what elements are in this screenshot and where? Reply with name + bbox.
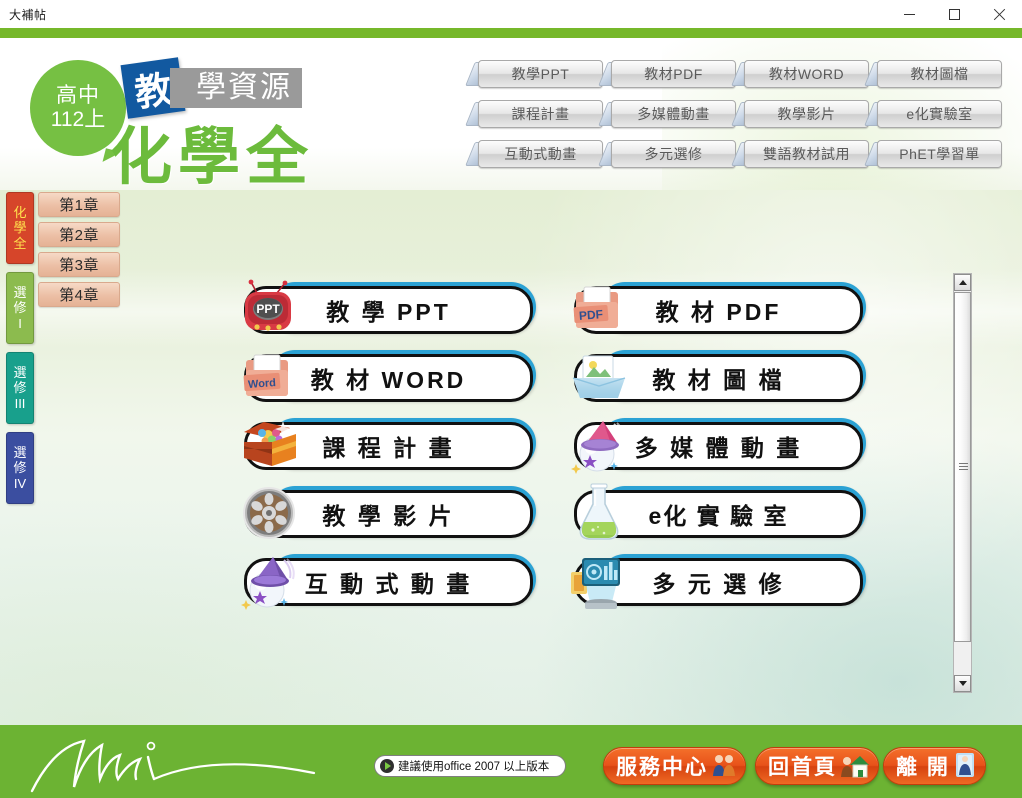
pdf-folder-icon: PDF — [566, 276, 632, 342]
rail-tab-chemistry-full[interactable]: 化 學 全 — [6, 192, 34, 264]
top-menu-item-4[interactable]: 教材圖檔 — [869, 60, 1002, 88]
window-controls — [887, 0, 1022, 28]
resource-button-interactive-animation[interactable]: 互 動 式 動 畫 — [236, 554, 536, 610]
close-button[interactable] — [977, 0, 1022, 28]
chevron-up-icon — [959, 280, 967, 285]
office-version-text: 建議使用office 2007 以上版本 — [398, 758, 549, 774]
maximize-button[interactable] — [932, 0, 977, 28]
image-folder-icon — [566, 344, 632, 410]
magic-hat-icon — [566, 412, 632, 478]
top-menu-item-3[interactable]: 教材WORD — [736, 60, 869, 88]
scroll-down-button[interactable] — [954, 675, 971, 692]
top-menu-label: 教材WORD — [744, 60, 869, 88]
scroll-up-button[interactable] — [954, 274, 971, 291]
window-title: 大補帖 — [0, 6, 47, 23]
top-menu-item-10[interactable]: 多元選修 — [603, 140, 736, 168]
resource-button-multimedia-animation[interactable]: 多 媒 體 動 畫 — [566, 418, 866, 474]
treasure-box-icon — [236, 412, 302, 478]
chapter-button-3[interactable]: 第3章 — [38, 252, 120, 277]
content-area: 化 學 全 選 修 I 選 修 III 選 修 IV 第1章 第2章 — [0, 190, 1022, 725]
rail-char: 全 — [13, 236, 26, 251]
top-menu-item-7[interactable]: 教學影片 — [736, 100, 869, 128]
resource-button-material-images[interactable]: 教 材 圖 檔 — [566, 350, 866, 406]
brand-accent-rule — [0, 28, 1022, 38]
scrollbar-thumb[interactable] — [954, 292, 971, 642]
resource-band: 學資源 — [170, 68, 302, 108]
home-label: 回首頁 — [768, 751, 837, 781]
content-scrollbar[interactable] — [953, 273, 972, 693]
chevron-down-icon — [959, 681, 967, 686]
svg-text:PDF: PDF — [578, 307, 603, 323]
chapter-button-2[interactable]: 第2章 — [38, 222, 120, 247]
minimize-button[interactable] — [887, 0, 932, 28]
top-menu-label: PhET學習單 — [877, 140, 1002, 168]
word-folder-icon: Word — [236, 344, 302, 410]
resource-button-course-plan[interactable]: 課 程 計 畫 — [236, 418, 536, 474]
resource-button-e-lab[interactable]: e化 實 驗 室 — [566, 486, 866, 542]
minimize-icon — [904, 14, 915, 15]
exit-button[interactable]: 離 開 — [883, 747, 986, 785]
top-menu-label: 多元選修 — [611, 140, 736, 168]
home-button[interactable]: 回首頁 — [755, 747, 879, 785]
resource-button-teaching-video[interactable]: 教 學 影 片 — [236, 486, 536, 542]
top-menu-label: 課程計畫 — [478, 100, 603, 128]
rail-char: 學 — [13, 220, 26, 235]
ppt-tv-icon: PPT — [236, 276, 302, 342]
exit-label: 離 開 — [896, 751, 950, 781]
rail-char: 化 — [13, 205, 26, 220]
svg-text:Word: Word — [248, 377, 277, 391]
grade-line-2: 112上 — [51, 108, 105, 132]
hologram-icon — [566, 548, 632, 614]
rail-tab-elective-1[interactable]: 選 修 I — [6, 272, 34, 344]
house-icon — [840, 752, 870, 781]
play-icon — [380, 759, 394, 773]
resource-button-grid: 教 學 PPT PPT — [236, 282, 896, 622]
maximize-icon — [949, 9, 960, 20]
resource-button-material-pdf[interactable]: 教 材 PDF PDF — [566, 282, 866, 338]
top-menu-item-5[interactable]: 課程計畫 — [470, 100, 603, 128]
magic-hat-icon — [236, 548, 302, 614]
rail-char: I — [18, 316, 22, 331]
top-menu-item-2[interactable]: 教材PDF — [603, 60, 736, 88]
svg-text:PPT: PPT — [256, 302, 280, 316]
top-menu-label: 教學影片 — [744, 100, 869, 128]
top-menu-label: 雙語教材試用 — [744, 140, 869, 168]
door-exit-icon — [953, 752, 977, 781]
rail-tab-elective-3[interactable]: 選 修 III — [6, 352, 34, 424]
flask-icon — [566, 480, 632, 546]
subject-rail: 化 學 全 選 修 I 選 修 III 選 修 IV — [6, 192, 34, 512]
top-menu-item-11[interactable]: 雙語教材試用 — [736, 140, 869, 168]
rail-char: 修 — [13, 460, 26, 475]
resource-button-material-word[interactable]: 教 材 WORD Word — [236, 350, 536, 406]
top-menu-item-6[interactable]: 多媒體動畫 — [603, 100, 736, 128]
top-menu-label: e化實驗室 — [877, 100, 1002, 128]
rail-char: 修 — [13, 300, 26, 315]
nani-logo — [24, 729, 324, 795]
top-menu-label: 教材PDF — [611, 60, 736, 88]
office-version-note: 建議使用office 2007 以上版本 — [374, 755, 566, 777]
people-icon — [711, 752, 737, 781]
top-menu-item-12[interactable]: PhET學習單 — [869, 140, 1002, 168]
top-menu-label: 教材圖檔 — [877, 60, 1002, 88]
resource-button-teaching-ppt[interactable]: 教 學 PPT PPT — [236, 282, 536, 338]
title-bar: 大補帖 — [0, 0, 1022, 28]
service-center-button[interactable]: 服務中心 — [603, 747, 746, 785]
top-menu-label: 互動式動畫 — [478, 140, 603, 168]
page-header: 高中 112上 教 學資源 化學全 教學PPT 教材PDF 教材WORD — [0, 38, 1022, 190]
top-menu-label: 多媒體動畫 — [611, 100, 736, 128]
rail-char: 修 — [13, 380, 26, 395]
page-title: 化學全 — [110, 106, 314, 190]
chapter-button-4[interactable]: 第4章 — [38, 282, 120, 307]
rail-char: IV — [14, 476, 26, 491]
grade-line-1: 高中 — [56, 84, 100, 108]
film-reel-icon — [236, 480, 302, 546]
rail-char: 選 — [13, 365, 26, 380]
top-menu-item-9[interactable]: 互動式動畫 — [470, 140, 603, 168]
scrollbar-grip-icon — [959, 463, 968, 471]
rail-char: 選 — [13, 285, 26, 300]
resource-button-diversified-elective[interactable]: 多 元 選 修 — [566, 554, 866, 610]
chapter-button-1[interactable]: 第1章 — [38, 192, 120, 217]
brand-logo: 高中 112上 教 學資源 化學全 — [18, 54, 458, 184]
rail-char: III — [15, 396, 26, 411]
rail-tab-elective-4[interactable]: 選 修 IV — [6, 432, 34, 504]
service-center-label: 服務中心 — [616, 751, 708, 781]
close-icon — [993, 8, 1006, 21]
top-menu: 教學PPT 教材PDF 教材WORD 教材圖檔 課程計畫 多媒體動畫 — [470, 60, 1002, 168]
chapter-list: 第1章 第2章 第3章 第4章 — [38, 192, 120, 312]
rail-char: 選 — [13, 445, 26, 460]
application-window: 大補帖 高中 112上 教 學資源 化學全 教學PPT — [0, 0, 1022, 798]
top-menu-item-1[interactable]: 教學PPT — [470, 60, 603, 88]
top-menu-label: 教學PPT — [478, 60, 603, 88]
top-menu-item-8[interactable]: e化實驗室 — [869, 100, 1002, 128]
